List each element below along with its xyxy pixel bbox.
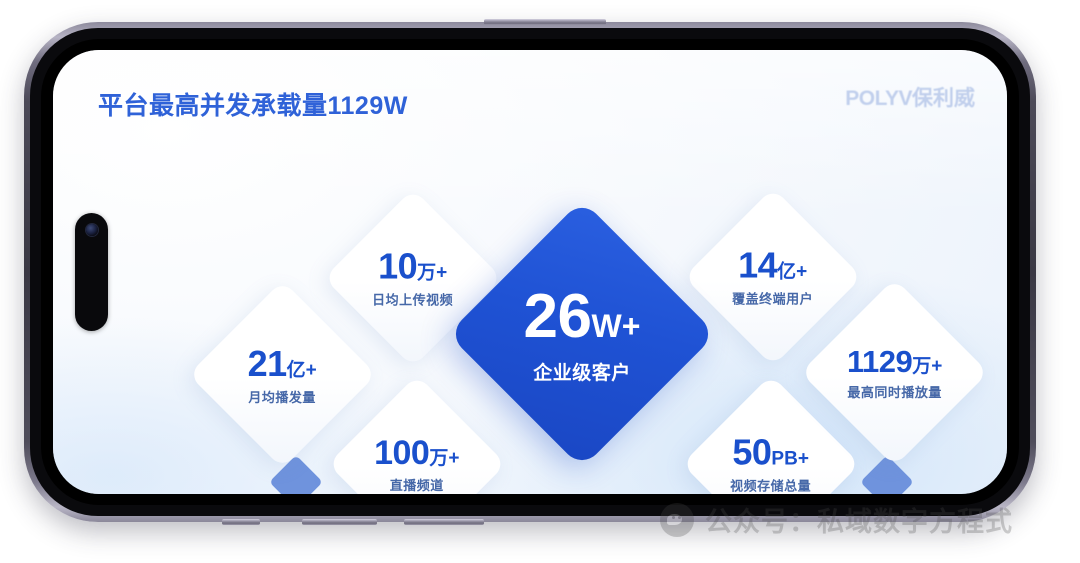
stat-card-monthly-playback[interactable]: 21亿+ 月均播发量	[188, 280, 376, 468]
stat-label: 月均播发量	[248, 391, 317, 404]
presentation-slide: 平台最高并发承载量1129W POLYV保利威 21亿+ 月均播发量	[53, 50, 1007, 494]
stat-number: 1129	[847, 344, 912, 379]
stat-unit: 亿+	[287, 360, 317, 381]
stat-label: 视频存储总量	[730, 480, 811, 493]
stat-unit: 万+	[430, 448, 460, 469]
stat-label: 最高同时播放量	[847, 386, 942, 399]
action-button[interactable]	[222, 519, 260, 525]
stat-number: 21	[248, 343, 287, 384]
stats-diamond-grid: 21亿+ 月均播发量 10万+ 日均上传视频	[53, 50, 1007, 494]
volume-down-button[interactable]	[404, 519, 484, 525]
phone-mockup: 平台最高并发承载量1129W POLYV保利威 21亿+ 月均播发量	[24, 22, 1036, 522]
stat-number: 14	[738, 245, 777, 286]
stat-unit: 亿+	[777, 262, 807, 283]
stat-label: 覆盖终端用户	[732, 293, 813, 306]
stat-label: 直播频道	[374, 479, 459, 492]
stat-number: 100	[374, 434, 429, 472]
stat-unit: PB+	[772, 449, 810, 470]
stat-label: 企业级客户	[524, 363, 641, 382]
front-camera-icon	[86, 224, 98, 236]
stat-card-enterprise-clients[interactable]: 26W+ 企业级客户	[448, 200, 717, 469]
stat-number: 10	[378, 246, 417, 287]
stat-unit: 万+	[417, 263, 447, 284]
phone-screen[interactable]: 平台最高并发承载量1129W POLYV保利威 21亿+ 月均播发量	[53, 50, 1007, 494]
volume-up-button[interactable]	[302, 519, 377, 525]
stat-unit: W+	[592, 307, 641, 343]
stat-number: 26	[524, 281, 592, 350]
stat-unit: 万+	[912, 356, 942, 377]
power-button[interactable]	[484, 19, 606, 25]
stat-number: 50	[733, 432, 772, 473]
dynamic-island[interactable]	[75, 213, 108, 331]
accent-diamond-right	[860, 455, 914, 494]
stat-label: 日均上传视频	[372, 294, 453, 307]
